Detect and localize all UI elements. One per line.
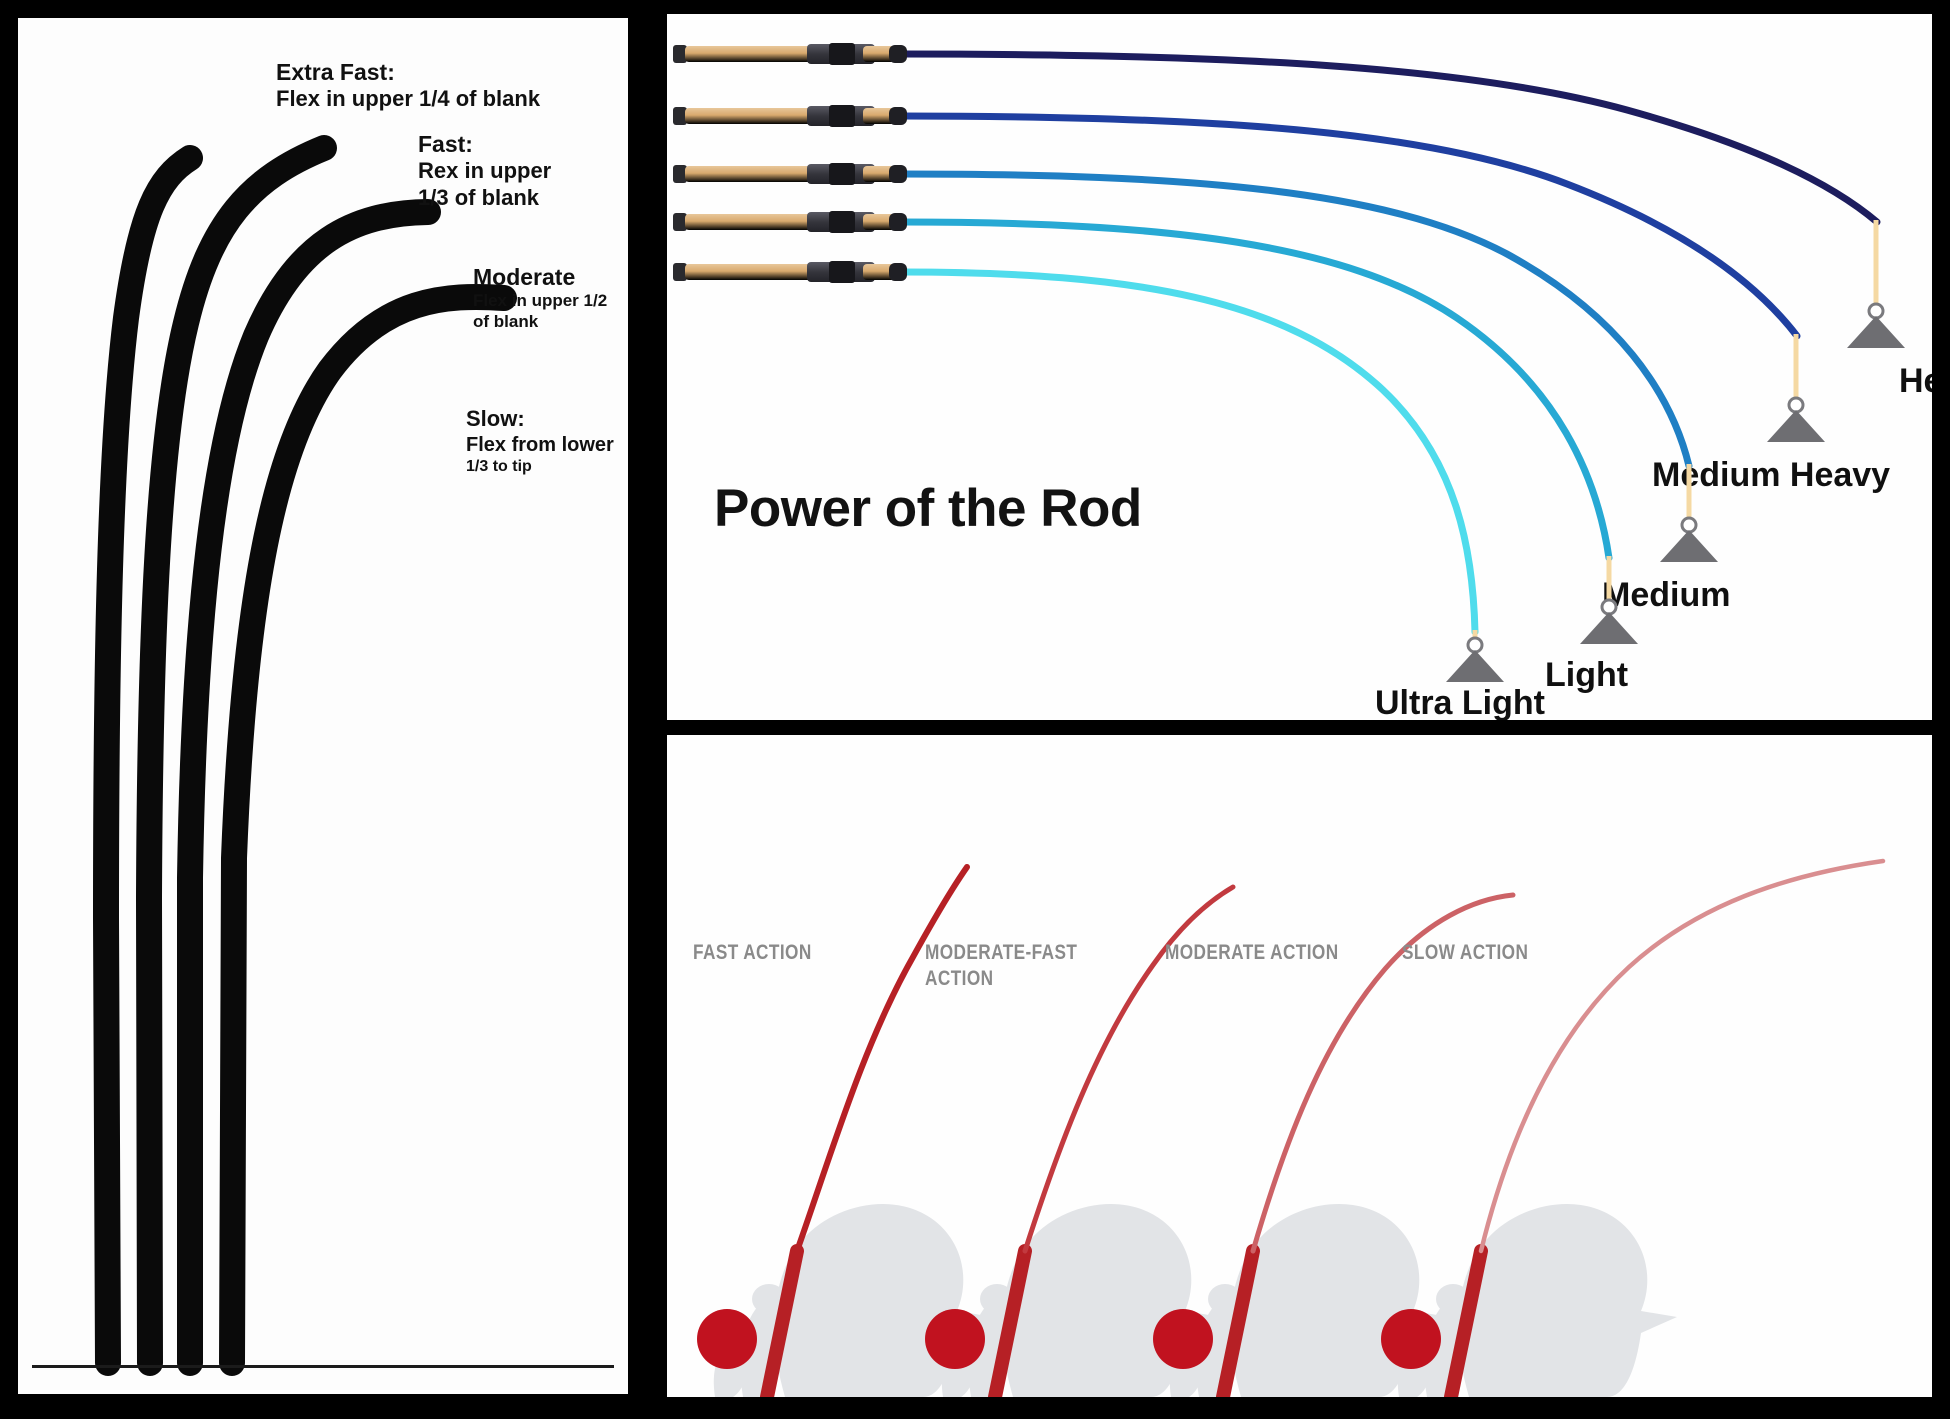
note-extra-fast: Extra Fast: Flex in upper 1/4 of blank xyxy=(276,58,540,113)
note-extra-fast-heading: Extra Fast: xyxy=(276,58,540,86)
action-label-slow-text: SLOW ACTION xyxy=(1402,941,1528,964)
action-types-diagram xyxy=(667,735,1932,1397)
weight-ultra-light xyxy=(1446,630,1504,682)
action-label-moderate-fast-text2: ACTION xyxy=(925,967,993,990)
action-label-moderate-fast-text: MODERATE-FAST xyxy=(925,941,1077,964)
rod-medium xyxy=(673,163,1689,466)
note-moderate: Moderate Flex in upper 1/2 of blank xyxy=(473,263,607,333)
note-fast: Fast: Rex in upper 1/3 of blank xyxy=(418,130,551,212)
note-fast-body: Rex in upper xyxy=(418,158,551,185)
reel-icon xyxy=(1381,1309,1441,1369)
note-fast-heading: Fast: xyxy=(418,130,551,158)
action-label-moderate-text: MODERATE ACTION xyxy=(1165,941,1339,964)
panel-power-of-the-rod: Heavy Medium Heavy xyxy=(667,14,1932,720)
power-label-heavy: Heavy xyxy=(1899,362,1932,400)
power-label-medium: Medium xyxy=(1602,576,1730,614)
rod-flex-curves xyxy=(18,18,628,1394)
angler-silhouettes xyxy=(714,1204,1677,1397)
power-label-light: Light xyxy=(1545,656,1628,694)
weight-medium-heavy xyxy=(1767,334,1825,442)
panel-rod-action-flex: Extra Fast: Flex in upper 1/4 of blank F… xyxy=(18,18,628,1394)
action-label-moderate-fast: MODERATE-FAST ACTION xyxy=(925,940,1077,993)
note-fast-body2: 1/3 of blank xyxy=(418,185,551,212)
note-slow-body2: 1/3 to tip xyxy=(466,457,614,477)
reel-icon xyxy=(925,1309,985,1369)
weight-heavy xyxy=(1847,220,1905,348)
note-moderate-body: Flex in upper 1/2 xyxy=(473,291,607,312)
rod-heavy xyxy=(673,43,1877,222)
figure-canvas: Extra Fast: Flex in upper 1/4 of blank F… xyxy=(0,0,1950,1419)
rod-ultra-light xyxy=(673,261,1475,632)
note-moderate-body2: of blank xyxy=(473,312,607,333)
power-rod-diagram: Heavy Medium Heavy xyxy=(667,14,1932,720)
note-extra-fast-body: Flex in upper 1/4 of blank xyxy=(276,86,540,113)
reel-icon xyxy=(697,1309,757,1369)
reel-icon xyxy=(1153,1309,1213,1369)
power-panel-title: Power of the Rod xyxy=(714,478,1142,539)
action-label-fast-text: FAST ACTION xyxy=(693,941,812,964)
note-slow: Slow: Flex from lower 1/3 to tip xyxy=(466,406,614,477)
action-label-slow: SLOW ACTION xyxy=(1402,940,1528,966)
panel-rod-action-types: FAST ACTION MODERATE-FAST ACTION MODERAT… xyxy=(667,735,1932,1397)
note-moderate-heading: Moderate xyxy=(473,263,607,291)
note-slow-heading: Slow: xyxy=(466,406,614,433)
note-slow-body: Flex from lower xyxy=(466,433,614,457)
angler-silhouette xyxy=(1398,1204,1677,1397)
action-label-moderate: MODERATE ACTION xyxy=(1165,940,1339,966)
power-label-ultra-light: Ultra Light xyxy=(1375,684,1545,720)
panel-bottom-rule xyxy=(32,1365,614,1368)
action-label-fast: FAST ACTION xyxy=(693,940,812,966)
